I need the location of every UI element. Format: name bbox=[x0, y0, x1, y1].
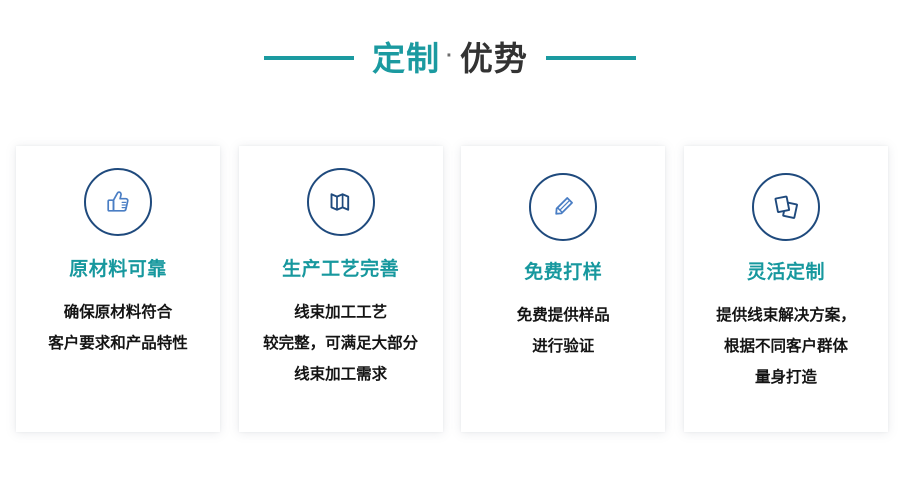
folded-map-icon bbox=[307, 168, 375, 236]
section-heading: 定制 · 优势 bbox=[0, 28, 900, 88]
advantage-card[interactable]: 灵活定制 提供线束解决方案， 根据不同客户群体 量身打造 bbox=[684, 146, 888, 432]
advantage-card-title: 生产工艺完善 bbox=[282, 260, 399, 281]
advantage-card[interactable]: 免费打样 免费提供样品 进行验证 bbox=[461, 146, 665, 432]
advantage-card-list: 原材料可靠 确保原材料符合 客户要求和产品特性 生产工艺完善 线束加工工艺 较完… bbox=[16, 146, 888, 432]
description-line: 客户要求和产品特性 bbox=[22, 328, 214, 359]
advantage-card-description: 免费提供样品 进行验证 bbox=[461, 300, 665, 362]
description-line: 进行验证 bbox=[467, 331, 659, 362]
description-line: 较完整，可满足大部分 bbox=[245, 328, 437, 359]
thumbs-up-icon bbox=[84, 168, 152, 236]
advantages-section: 定制 · 优势 原材料可靠 确保原材料符合 客户要求和产品特性 bbox=[0, 0, 900, 499]
page-title-accent: 定制 bbox=[372, 42, 440, 75]
description-line: 量身打造 bbox=[690, 362, 882, 393]
advantage-card-description: 提供线束解决方案， 根据不同客户群体 量身打造 bbox=[684, 300, 888, 393]
advantage-card-title: 免费打样 bbox=[524, 263, 602, 284]
pencil-icon bbox=[529, 173, 597, 241]
stacked-cards-icon bbox=[752, 173, 820, 241]
description-line: 提供线束解决方案， bbox=[690, 300, 882, 331]
advantage-card-title: 灵活定制 bbox=[747, 263, 825, 284]
description-line: 根据不同客户群体 bbox=[690, 331, 882, 362]
description-line: 线束加工工艺 bbox=[245, 297, 437, 328]
description-line: 免费提供样品 bbox=[467, 300, 659, 331]
page-title-main: 优势 bbox=[460, 42, 528, 75]
description-line: 确保原材料符合 bbox=[22, 297, 214, 328]
advantage-card-description: 确保原材料符合 客户要求和产品特性 bbox=[16, 297, 220, 359]
description-line: 线束加工需求 bbox=[245, 359, 437, 390]
advantage-card[interactable]: 原材料可靠 确保原材料符合 客户要求和产品特性 bbox=[16, 146, 220, 432]
page-title-separator: · bbox=[446, 46, 454, 66]
advantage-card-title: 原材料可靠 bbox=[69, 260, 167, 281]
page-title: 定制 · 优势 bbox=[372, 42, 528, 75]
heading-rule-right bbox=[546, 56, 636, 60]
heading-rule-left bbox=[264, 56, 354, 60]
advantage-card-description: 线束加工工艺 较完整，可满足大部分 线束加工需求 bbox=[239, 297, 443, 390]
advantage-card[interactable]: 生产工艺完善 线束加工工艺 较完整，可满足大部分 线束加工需求 bbox=[239, 146, 443, 432]
